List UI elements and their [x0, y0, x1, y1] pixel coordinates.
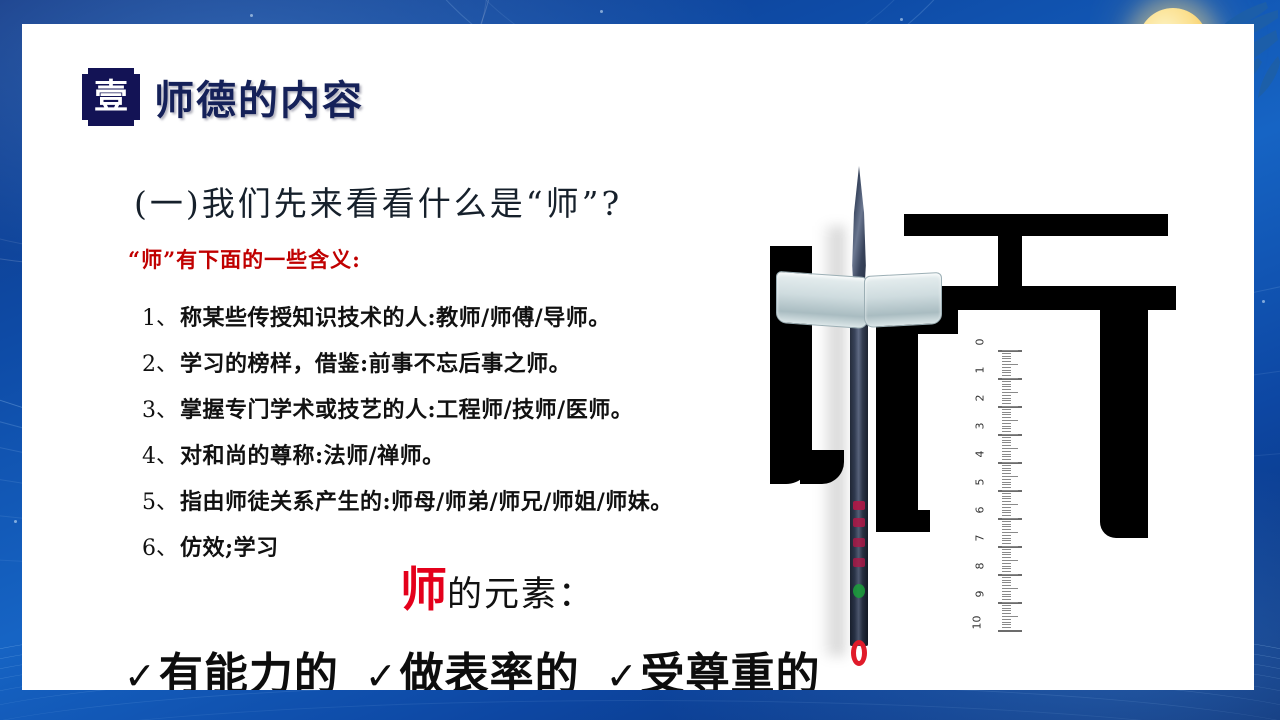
brush-inscription — [853, 501, 865, 510]
ruler-label: 8 — [974, 563, 987, 587]
quality-item: ✓ 做表率的 — [365, 638, 580, 690]
brush-inscription — [853, 538, 865, 547]
ruler-label: 5 — [974, 479, 987, 503]
quality-label: 有能力的 — [159, 638, 339, 690]
list-item: 1、 称某些传授知识技术的人:教师/师傅/导师。 — [142, 300, 842, 346]
list-item-label: 学习的榜样，借鉴:前事不忘后事之师。 — [180, 346, 571, 378]
list-item-label: 指由师徒关系产生的:师母/师弟/师兄/师姐/师妹。 — [180, 484, 673, 516]
ruler-label: 9 — [974, 591, 987, 615]
subheading-text: (一)我们先来看看什么是“师”? — [134, 177, 622, 225]
list-item: 3、 掌握专门学术或技艺的人:工程师/技师/医师。 — [142, 392, 842, 438]
red-lead-text: “师”有下面的一些含义: — [128, 244, 361, 274]
section-heading: 壹 师德的内容 — [82, 68, 364, 126]
ruler-label: 10 — [971, 616, 984, 646]
ruler-label: 2 — [974, 395, 987, 419]
list-item: 4、 对和尚的尊称:法师/禅师。 — [142, 438, 842, 484]
check-icon: ✓ — [365, 654, 398, 690]
list-item-label: 仿效;学习 — [180, 530, 279, 562]
calligraphy-brush-icon — [838, 166, 880, 666]
elements-label: 的元素： — [447, 566, 595, 617]
list-item-label: 称某些传授知识技术的人:教师/师傅/导师。 — [180, 300, 611, 332]
list-item-number: 2、 — [142, 346, 180, 378]
ruler-label: 0 — [974, 339, 987, 363]
elements-heading: 师 的元素： — [400, 551, 595, 620]
page-title: 师德的内容 — [154, 68, 364, 126]
list-item: 2、 学习的榜样，借鉴:前事不忘后事之师。 — [142, 346, 842, 392]
list-item-number: 1、 — [142, 300, 180, 332]
list-item-label: 掌握专门学术或技艺的人:工程师/技师/医师。 — [180, 392, 633, 424]
quality-item: ✓ 受尊重的 — [606, 638, 821, 690]
check-icon: ✓ — [606, 654, 639, 690]
list-item: 5、 指由师徒关系产生的:师母/师弟/师兄/师姐/师妹。 — [142, 484, 842, 530]
check-icon: ✓ — [124, 654, 157, 690]
slide-content-card: 壹 师德的内容 (一)我们先来看看什么是“师”? “师”有下面的一些含义: 1、… — [22, 24, 1254, 690]
ruler-label: 4 — [974, 451, 987, 475]
quality-item: ✓ 有能力的 — [124, 638, 339, 690]
quality-label: 做表率的 — [400, 638, 580, 690]
meanings-list: 1、 称某些传授知识技术的人:教师/师傅/导师。 2、 学习的榜样，借鉴:前事不… — [142, 300, 842, 576]
qualities-row: ✓ 有能力的 ✓ 做表率的 ✓ 受尊重的 — [124, 638, 821, 690]
brush-seal — [853, 584, 865, 598]
section-number-badge: 壹 — [82, 68, 140, 126]
brush-rest-icon — [776, 274, 942, 326]
list-item-number: 4、 — [142, 438, 180, 470]
brush-inscription — [853, 558, 865, 567]
list-item-number: 5、 — [142, 484, 180, 516]
ruler-label: 7 — [974, 535, 987, 559]
quality-label: 受尊重的 — [641, 638, 821, 690]
ruler-icon: 0 1 2 3 4 5 6 7 8 9 10 — [968, 350, 1030, 640]
brush-inscription — [853, 518, 865, 527]
brush-loop — [851, 640, 867, 666]
list-item-number: 3、 — [142, 392, 180, 424]
ruler-label: 3 — [974, 423, 987, 447]
list-item-number: 6、 — [142, 530, 180, 562]
ruler-label: 1 — [974, 367, 987, 391]
ruler-label: 6 — [974, 507, 987, 531]
list-item-label: 对和尚的尊称:法师/禅师。 — [180, 438, 445, 470]
elements-highlight-char: 师 — [400, 551, 447, 620]
